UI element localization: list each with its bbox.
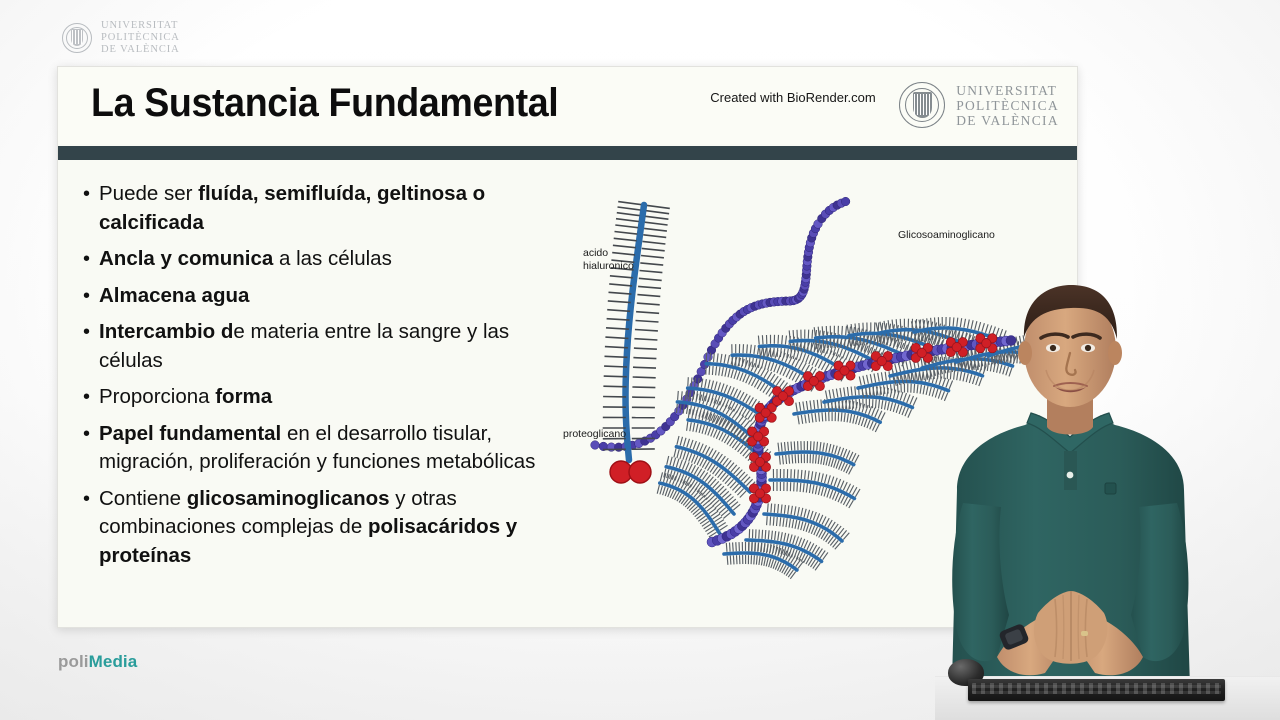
- bullet-marker-icon: •: [83, 180, 99, 237]
- upv-logo-header: UNIVERSITAT POLITÈCNICA DE VALÈNCIA: [62, 20, 180, 55]
- bullet-marker-icon: •: [83, 485, 99, 571]
- bullet-item: •Ancla y comunica a las células: [83, 245, 553, 274]
- upv-logo-slide: UNIVERSITAT POLITÈCNICA DE VALÈNCIA: [899, 82, 1059, 128]
- label-hyaluronic-acid: acido hialuronico: [583, 247, 634, 272]
- polimedia-part1: poli: [58, 652, 89, 671]
- bullet-text: Almacena agua: [99, 282, 553, 311]
- slide-accent-bar: [58, 146, 1077, 160]
- presenter-figure: [905, 275, 1235, 720]
- bullet-item: •Proporciona forma: [83, 383, 553, 412]
- label-ha-line1: acido: [583, 247, 608, 259]
- bullet-marker-icon: •: [83, 245, 99, 274]
- bullet-marker-icon: •: [83, 318, 99, 375]
- bullet-marker-icon: •: [83, 282, 99, 311]
- bullet-list: •Puede ser fluída, semifluída, geltinosa…: [83, 180, 553, 578]
- bullet-item: •Puede ser fluída, semifluída, geltinosa…: [83, 180, 553, 237]
- label-glycosaminoglycan: Glicosoaminoglicano: [898, 229, 995, 242]
- upv-logo-text: UNIVERSITAT POLITÈCNICA DE VALÈNCIA: [101, 20, 180, 55]
- bullet-marker-icon: •: [83, 383, 99, 412]
- upv-slide-logo-line3: DE VALÈNCIA: [956, 113, 1059, 128]
- label-ha-line2: hialuronico: [583, 260, 634, 272]
- bullet-marker-icon: •: [83, 420, 99, 477]
- polimedia-part2: Media: [89, 652, 138, 671]
- bullet-item: •Contiene glicosaminoglicanos y otras co…: [83, 485, 553, 571]
- bullet-text: Contiene glicosaminoglicanos y otras com…: [99, 485, 553, 571]
- bullet-text: Proporciona forma: [99, 383, 553, 412]
- bullet-text: Intercambio de materia entre la sangre y…: [99, 318, 553, 375]
- bullet-text: Ancla y comunica a las células: [99, 245, 553, 274]
- upv-seal-icon: [62, 23, 92, 53]
- bullet-text: Puede ser fluída, semifluída, geltinosa …: [99, 180, 553, 237]
- bullet-text: Papel fundamental en el desarrollo tisul…: [99, 420, 553, 477]
- biorender-attribution: Created with BioRender.com: [578, 90, 1008, 105]
- bullet-item: •Almacena agua: [83, 282, 553, 311]
- polimedia-logo: poliMedia: [58, 652, 137, 672]
- label-proteoglycan: proteoglicano: [563, 428, 626, 441]
- video-stage: UNIVERSITAT POLITÈCNICA DE VALÈNCIA La S…: [0, 0, 1280, 720]
- page-title: La Sustancia Fundamental: [91, 81, 558, 126]
- bullet-item: •Intercambio de materia entre la sangre …: [83, 318, 553, 375]
- upv-logo-line1: UNIVERSITAT: [101, 20, 178, 31]
- upv-logo-line2: POLITÈCNICA: [101, 32, 180, 43]
- upv-seal-icon: [899, 82, 945, 128]
- keyboard-device[interactable]: [968, 679, 1225, 701]
- upv-logo-line3: DE VALÈNCIA: [101, 44, 180, 55]
- bullet-item: •Papel fundamental en el desarrollo tisu…: [83, 420, 553, 477]
